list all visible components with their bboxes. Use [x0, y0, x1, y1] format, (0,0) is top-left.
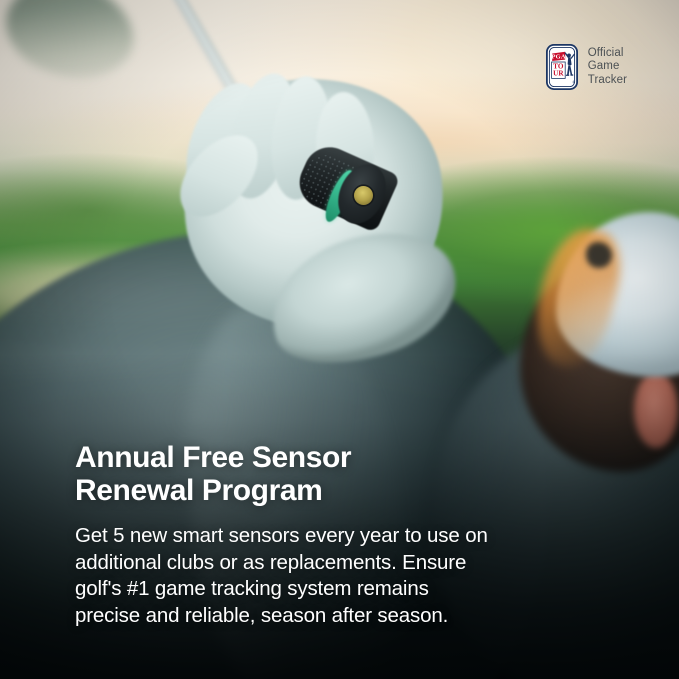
headline-line-1: Annual Free Sensor: [75, 441, 595, 474]
svg-text:UR: UR: [553, 70, 564, 78]
body-line-2: additional clubs or as replacements. Ens…: [75, 550, 595, 577]
promo-card: PGA TO UR ® Official Game Tracker: [0, 0, 679, 679]
body-line-3: golf's #1 game tracking system remains: [75, 576, 595, 603]
svg-text:PGA: PGA: [551, 53, 565, 60]
golfer-ear: [634, 372, 678, 448]
golf-club-head: [0, 0, 149, 102]
page-title: Annual Free Sensor Renewal Program: [75, 441, 595, 507]
promo-description: Get 5 new smart sensors every year to us…: [75, 523, 595, 629]
body-line-1: Get 5 new smart sensors every year to us…: [75, 523, 595, 550]
promo-copy-block: Annual Free Sensor Renewal Program Get 5…: [75, 441, 595, 629]
badge-line-tracker: Tracker: [588, 74, 627, 88]
badge-line-official: Official: [588, 47, 627, 61]
pga-tour-logo-icon: PGA TO UR ®: [546, 44, 578, 90]
golfer-cap-logo: [586, 242, 612, 268]
pga-tour-official-game-tracker-badge: PGA TO UR ® Official Game Tracker: [546, 44, 627, 90]
badge-text-block: Official Game Tracker: [588, 47, 627, 88]
headline-line-2: Renewal Program: [75, 474, 595, 507]
body-line-4: precise and reliable, season after seaso…: [75, 603, 595, 630]
badge-line-game: Game: [588, 60, 627, 74]
